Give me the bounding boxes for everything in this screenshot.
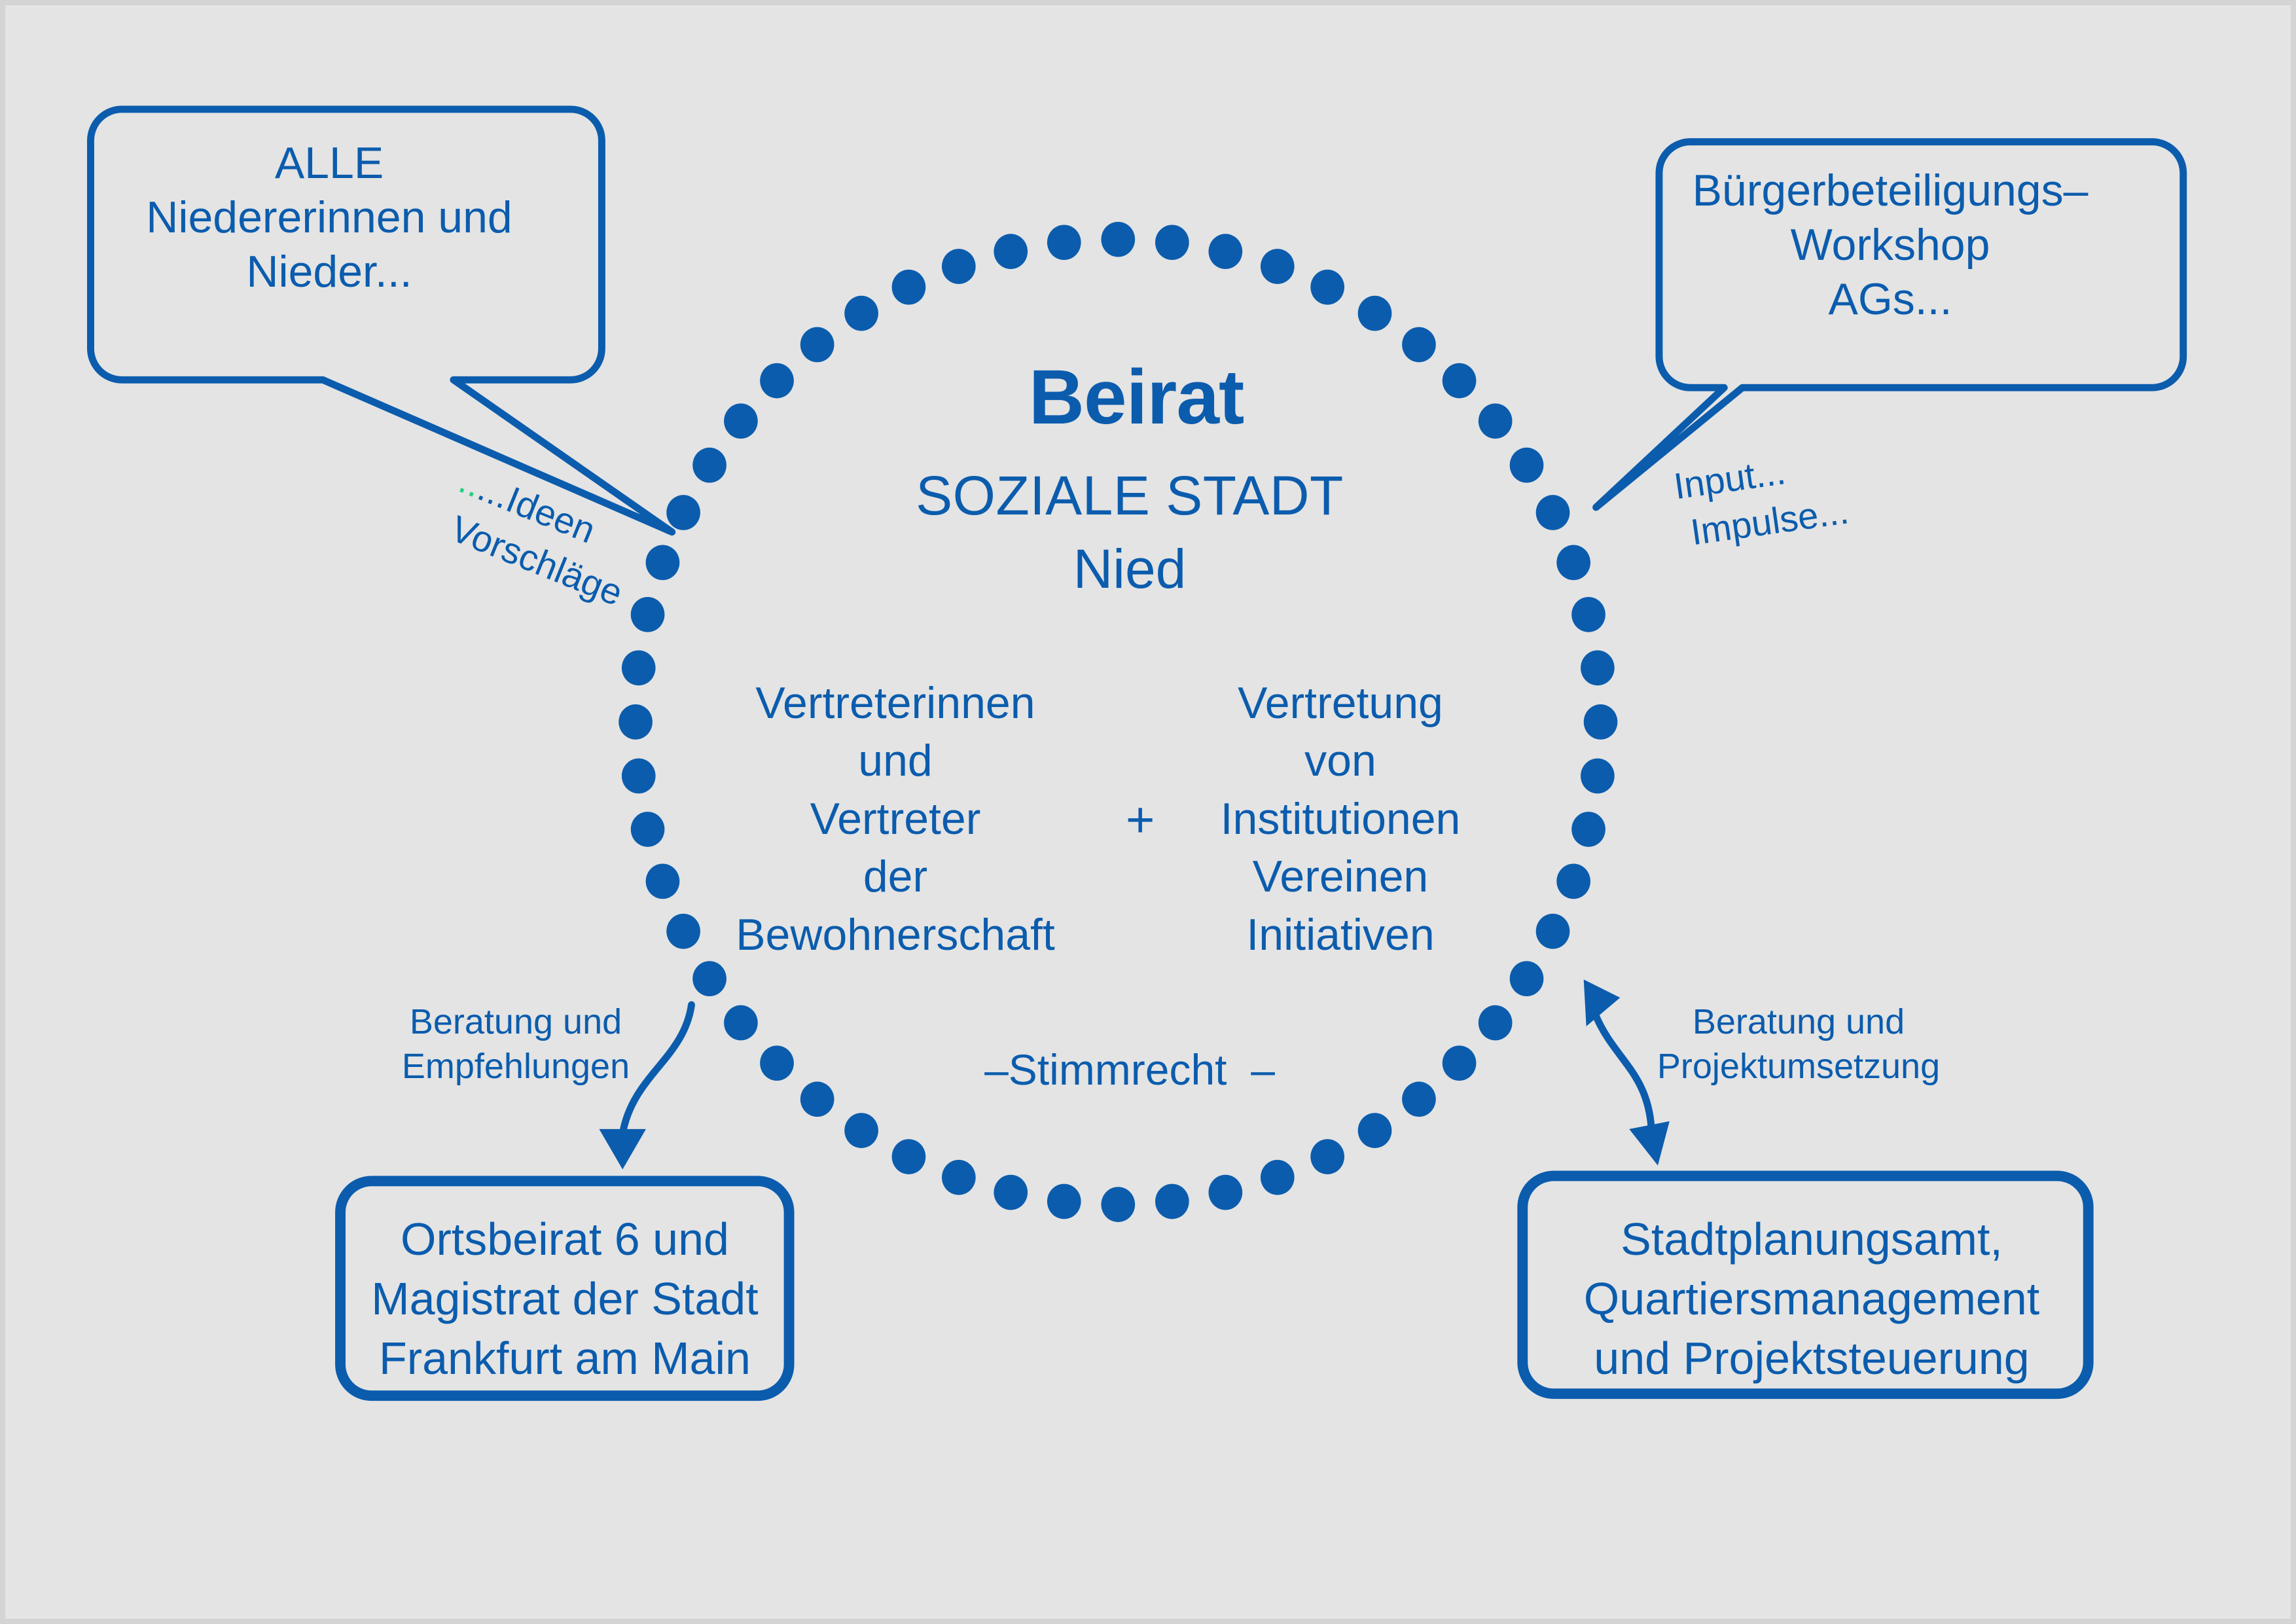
circle-dot	[1556, 545, 1590, 581]
circle-dot	[1584, 704, 1618, 740]
circle-dot	[1101, 222, 1135, 257]
circle-dot	[1047, 225, 1081, 260]
circle-dot	[760, 363, 794, 399]
circle-dot	[1101, 1187, 1135, 1222]
circle-dot	[760, 1045, 794, 1081]
box-outline-bottom-right[interactable]	[1522, 1176, 2088, 1394]
circle-dot	[1209, 1175, 1243, 1210]
circle-dot	[1443, 363, 1477, 399]
circle-dot	[892, 270, 926, 305]
arrow-to-stadtplanungsamt	[1584, 979, 1670, 1165]
diagram-canvas: Beirat SOZIALE STADT Nied Vertreterinnen…	[0, 0, 2296, 1624]
circle-dot	[1358, 296, 1392, 331]
circle-dot	[666, 495, 700, 530]
circle-dot	[692, 448, 726, 483]
circle-dot	[942, 249, 976, 284]
circle-dot	[1556, 864, 1590, 899]
circle-dot	[1310, 1139, 1344, 1174]
circle-dot	[1479, 403, 1513, 439]
circle-dot	[1571, 812, 1605, 847]
circle-dot	[994, 234, 1028, 269]
circle-dot	[622, 759, 656, 794]
dotted-circle-ring	[619, 222, 1617, 1222]
bubble-outline-top-left	[90, 109, 672, 532]
circle-dot	[1155, 1184, 1189, 1219]
circle-dot	[1261, 1160, 1295, 1195]
circle-dot	[1581, 650, 1615, 685]
circle-dot	[1261, 249, 1295, 284]
circle-dot	[724, 403, 758, 439]
circle-dot	[619, 704, 653, 740]
circle-dot	[994, 1175, 1028, 1210]
circle-dot	[800, 1081, 834, 1117]
circle-dot	[1402, 327, 1436, 363]
circle-dot	[1209, 234, 1243, 269]
circle-dot	[1402, 1081, 1436, 1117]
diagram-graphics	[5, 5, 2291, 1619]
circle-dot	[1581, 759, 1615, 794]
circle-dot	[1536, 495, 1570, 530]
circle-dot	[1510, 961, 1544, 996]
speech-bubble-top-left[interactable]	[90, 109, 672, 532]
circle-dot	[844, 296, 878, 331]
circle-dot	[1443, 1045, 1477, 1081]
arrow-to-ortsbeirat	[599, 1005, 691, 1169]
circle-dot	[666, 914, 700, 949]
speech-bubble-top-right[interactable]	[1596, 142, 2183, 507]
circle-dot	[1479, 1005, 1513, 1041]
circle-dot	[892, 1139, 926, 1174]
circle-dot	[724, 1005, 758, 1041]
circle-dot	[631, 597, 665, 632]
box-outline-bottom-left[interactable]	[340, 1181, 789, 1396]
circle-dot	[844, 1113, 878, 1148]
bubble-outline-top-right	[1596, 142, 2183, 507]
circle-dot	[622, 650, 656, 685]
circle-dot	[942, 1160, 976, 1195]
circle-dot	[1536, 914, 1570, 949]
circle-dot	[1047, 1184, 1081, 1219]
circle-dot	[646, 545, 680, 581]
circle-dot	[1358, 1113, 1392, 1148]
circle-dot	[631, 812, 665, 847]
circle-dot	[1310, 270, 1344, 305]
circle-dot	[1155, 225, 1189, 260]
circle-dot	[800, 327, 834, 363]
circle-dot	[692, 961, 726, 996]
circle-dot	[646, 864, 680, 899]
circle-dot	[1510, 448, 1544, 483]
circle-dot	[1571, 597, 1605, 632]
